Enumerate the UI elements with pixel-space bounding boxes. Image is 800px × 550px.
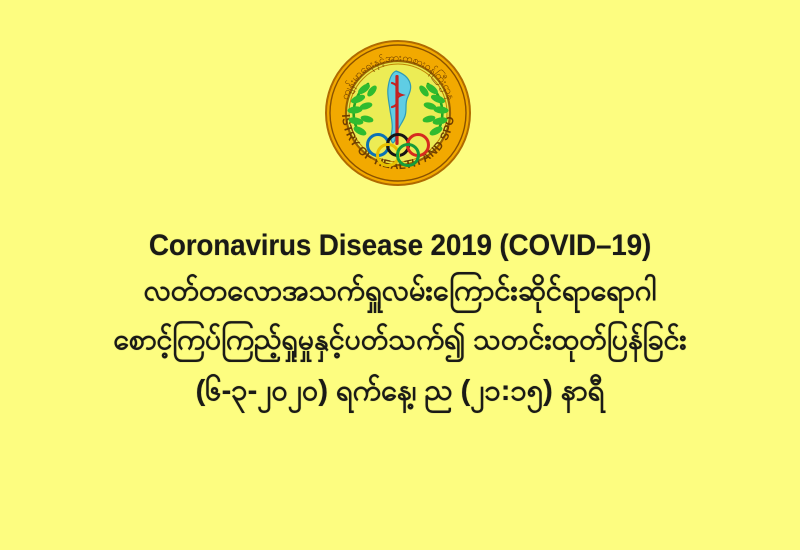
- ministry-seal: ကျန်းမာရေးနှင့်အားကစားဝန်ကြီးဌာန MINISTR…: [322, 31, 474, 189]
- headline-block: Coronavirus Disease 2019 (COVID–19) လတ်တ…: [0, 225, 800, 417]
- datetime-stamp: (၆-၃-၂၀၂၀) ရက်နေ့၊ ည (၂၁:၁၅) နာရီ: [0, 365, 800, 417]
- announcement-card: ကျန်းမာရေးနှင့်အားကစားဝန်ကြီးဌာန MINISTR…: [0, 0, 800, 550]
- subtitle-line-1: လတ်တလောအသက်ရှူလမ်းကြောင်းဆိုင်ရာရောဂါ: [0, 267, 800, 316]
- subtitle-line-2: စောင့်ကြပ်ကြည့်ရှုမှုနှင့်ပတ်သက်၍ သတင်းထ…: [0, 316, 800, 365]
- page-title: Coronavirus Disease 2019 (COVID–19): [28, 225, 772, 267]
